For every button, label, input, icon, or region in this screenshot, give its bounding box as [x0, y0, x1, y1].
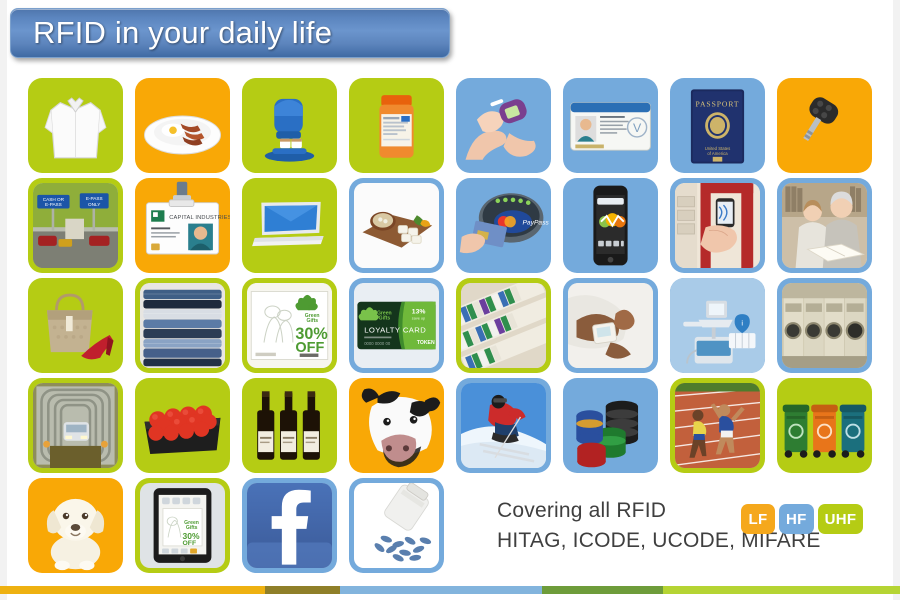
tile-library-reading-seniors[interactable] [777, 178, 872, 273]
phone-tapping-reader-image [675, 183, 760, 268]
tile-track-race-finish[interactable] [670, 378, 765, 473]
tile-lab-sample-reader[interactable]: i [670, 278, 765, 373]
tile-contactless-payment-terminal[interactable]: PayPass [456, 178, 551, 273]
crate-of-tomatoes-icon [135, 378, 230, 473]
frequency-badge-hf: HF [779, 504, 814, 534]
wine-bottles-icon [242, 378, 337, 473]
tile-discount-coupon-30-off[interactable]: GreenGifts30%OFF [242, 278, 337, 373]
tile-bacon-and-eggs-plate[interactable] [135, 78, 230, 173]
designer-handbag-and-shoe-image [28, 278, 123, 373]
library-reading-seniors-image [782, 183, 867, 268]
stacked-blue-jeans-icon [140, 283, 225, 368]
sushi-meal-tray-image [354, 183, 439, 268]
dairy-cow-icon [349, 378, 444, 473]
tile-labrador-puppy[interactable] [28, 478, 123, 573]
tile-car-key-fob[interactable] [777, 78, 872, 173]
tile-casino-poker-chips[interactable] [563, 378, 658, 473]
tile-laundromat-washing-machines[interactable] [777, 278, 872, 373]
toll-booth-epass-image: CASH ORE-PASSE-PASSONLY [33, 183, 118, 268]
olive-segment [265, 586, 340, 594]
lab-sample-reader-image: i [670, 278, 765, 373]
downhill-skier-image [461, 383, 546, 468]
labrador-puppy-icon [28, 478, 123, 573]
tile-wine-bottles[interactable] [242, 378, 337, 473]
tile-phone-tapping-reader[interactable] [670, 178, 765, 273]
facebook-logo-icon [247, 483, 332, 568]
tile-designer-handbag-and-shoe[interactable] [28, 278, 123, 373]
svg-text:Gifts: Gifts [379, 316, 391, 322]
pill-bottle-spilled-tablets-image [354, 483, 439, 568]
drivers-license-card-icon: V [563, 78, 658, 173]
recycling-wheelie-bins-image [777, 378, 872, 473]
car-key-fob-image [777, 78, 872, 173]
tile-us-passport[interactable]: PASSPORTUnited Statesof America [670, 78, 765, 173]
tablet-device-icon: GreenGifts30%OFF [140, 483, 225, 568]
tile-stacked-blue-jeans[interactable] [135, 278, 230, 373]
wine-bottles-image [242, 378, 337, 473]
white-dress-shirt-image [28, 78, 123, 173]
sushi-meal-tray-icon [354, 183, 439, 268]
svg-text:E-PASS: E-PASS [86, 196, 103, 201]
stacked-blue-jeans-image [140, 283, 225, 368]
tile-pharmacy-shelf-medicines[interactable] [456, 278, 551, 373]
contactless-payment-terminal-icon: PayPass [456, 178, 551, 273]
svg-text:OFF: OFF [295, 340, 324, 356]
laptop-computer-image [242, 178, 337, 273]
car-wash-tunnel-icon [33, 383, 118, 468]
us-passport-image: PASSPORTUnited Statesof America [670, 78, 765, 173]
tile-pill-bottle-spilled-tablets[interactable] [349, 478, 444, 573]
page-title: RFID in your daily life [11, 15, 332, 51]
labrador-puppy-image [28, 478, 123, 573]
tile-facebook-logo[interactable] [242, 478, 337, 573]
tile-patient-wristband-scanner[interactable] [563, 278, 658, 373]
recycling-wheelie-bins-icon [777, 378, 872, 473]
laptop-computer-icon [242, 178, 337, 273]
discount-coupon-30-off-image: GreenGifts30%OFF [247, 283, 332, 368]
svg-text:CAPITAL INDUSTRIES: CAPITAL INDUSTRIES [169, 215, 230, 221]
frequency-badge-uhf: UHF [818, 504, 864, 534]
svg-text:0000 0000 00: 0000 0000 00 [364, 341, 391, 346]
employee-id-badge-icon: CAPITAL INDUSTRIES [135, 178, 230, 273]
svg-text:ONLY: ONLY [88, 202, 100, 207]
tile-toll-booth-epass[interactable]: CASH ORE-PASSE-PASSONLY [28, 178, 123, 273]
bottom-color-stripe [0, 586, 900, 594]
bacon-and-eggs-plate-icon [135, 78, 230, 173]
track-race-finish-icon [675, 383, 760, 468]
tile-dairy-cow[interactable] [349, 378, 444, 473]
light-green-segment [663, 586, 900, 594]
prescription-pill-bottle-icon [349, 78, 444, 173]
svg-text:CASH OR: CASH OR [43, 197, 65, 202]
green-gifts-loyalty-card-image: GreenGiftsLOYALTY CARD0000 0000 0013%sav… [354, 283, 439, 368]
facebook-logo-image [247, 483, 332, 568]
svg-text:of America: of America [707, 151, 728, 156]
track-race-finish-image [675, 383, 760, 468]
tile-blood-glucose-meter[interactable] [456, 78, 551, 173]
tile-recycling-wheelie-bins[interactable] [777, 378, 872, 473]
designer-handbag-and-shoe-icon [28, 278, 123, 373]
tile-green-gifts-loyalty-card[interactable]: GreenGiftsLOYALTY CARD0000 0000 0013%sav… [349, 278, 444, 373]
gold-segment [0, 586, 265, 594]
frequency-badge-row: LFHFUHF [741, 504, 863, 534]
pharmacy-shelf-medicines-icon [461, 283, 546, 368]
white-dress-shirt-icon [28, 78, 123, 173]
downhill-skier-icon [461, 383, 546, 468]
tile-coffee-pod-machine[interactable] [242, 78, 337, 173]
svg-text:TOKEN: TOKEN [417, 340, 435, 346]
patient-wristband-scanner-icon [568, 283, 653, 368]
laundromat-washing-machines-image [782, 283, 867, 368]
frequency-badge-lf: LF [741, 504, 775, 534]
svg-text:PASSPORT: PASSPORT [695, 100, 739, 109]
svg-text:OFF: OFF [183, 540, 197, 547]
casino-poker-chips-icon [563, 378, 658, 473]
drivers-license-card-image: V [563, 78, 658, 173]
tile-tablet-device[interactable]: GreenGifts30%OFF [135, 478, 230, 573]
svg-text:E-PASS: E-PASS [45, 202, 62, 207]
pill-bottle-spilled-tablets-icon [354, 483, 439, 568]
contactless-payment-terminal-image: PayPass [456, 178, 551, 273]
nfc-smartphone-image [563, 178, 658, 273]
svg-text:Gifts: Gifts [186, 525, 198, 531]
casino-poker-chips-image [563, 378, 658, 473]
tile-crate-of-tomatoes[interactable] [135, 378, 230, 473]
tile-white-dress-shirt[interactable] [28, 78, 123, 173]
blood-glucose-meter-image [456, 78, 551, 173]
tile-sushi-meal-tray[interactable] [349, 178, 444, 273]
tile-laptop-computer[interactable] [242, 178, 337, 273]
crate-of-tomatoes-image [135, 378, 230, 473]
pharmacy-shelf-medicines-image [461, 283, 546, 368]
tile-nfc-smartphone[interactable] [563, 178, 658, 273]
tile-prescription-pill-bottle[interactable] [349, 78, 444, 173]
patient-wristband-scanner-image [568, 283, 653, 368]
employee-id-badge-image: CAPITAL INDUSTRIES [135, 178, 230, 273]
lab-sample-reader-icon: i [670, 278, 765, 373]
svg-text:LOYALTY CARD: LOYALTY CARD [364, 325, 426, 334]
coffee-pod-machine-icon [242, 78, 337, 173]
prescription-pill-bottle-image [349, 78, 444, 173]
car-wash-tunnel-image [33, 383, 118, 468]
page-edge-left [0, 0, 7, 600]
blood-glucose-meter-icon [456, 78, 551, 173]
car-key-fob-icon [777, 78, 872, 173]
svg-text:PayPass: PayPass [523, 220, 550, 227]
tablet-device-image: GreenGifts30%OFF [140, 483, 225, 568]
title-banner: RFID in your daily life [10, 8, 450, 58]
page-edge-right [893, 0, 900, 600]
tile-employee-id-badge[interactable]: CAPITAL INDUSTRIES [135, 178, 230, 273]
library-reading-seniors-icon [782, 183, 867, 268]
phone-tapping-reader-icon [675, 183, 760, 268]
svg-text:13%: 13% [412, 309, 426, 316]
discount-coupon-30-off-icon: GreenGifts30%OFF [247, 283, 332, 368]
green-gifts-loyalty-card-icon: GreenGiftsLOYALTY CARD0000 0000 0013%sav… [354, 283, 439, 368]
blue-segment [340, 586, 542, 594]
nfc-smartphone-icon [563, 178, 658, 273]
svg-text:save up: save up [412, 317, 425, 321]
bacon-and-eggs-plate-image [135, 78, 230, 173]
coffee-pod-machine-image [242, 78, 337, 173]
tile-drivers-license-card[interactable]: V [563, 78, 658, 173]
dark-green-segment [542, 586, 663, 594]
svg-text:V: V [633, 121, 642, 135]
tile-downhill-skier[interactable] [456, 378, 551, 473]
svg-text:Gifts: Gifts [307, 318, 319, 324]
us-passport-icon: PASSPORTUnited Statesof America [670, 78, 765, 173]
toll-booth-epass-icon: CASH ORE-PASSE-PASSONLY [33, 183, 118, 268]
tile-car-wash-tunnel[interactable] [28, 378, 123, 473]
laundromat-washing-machines-icon [782, 283, 867, 368]
dairy-cow-image [349, 378, 444, 473]
